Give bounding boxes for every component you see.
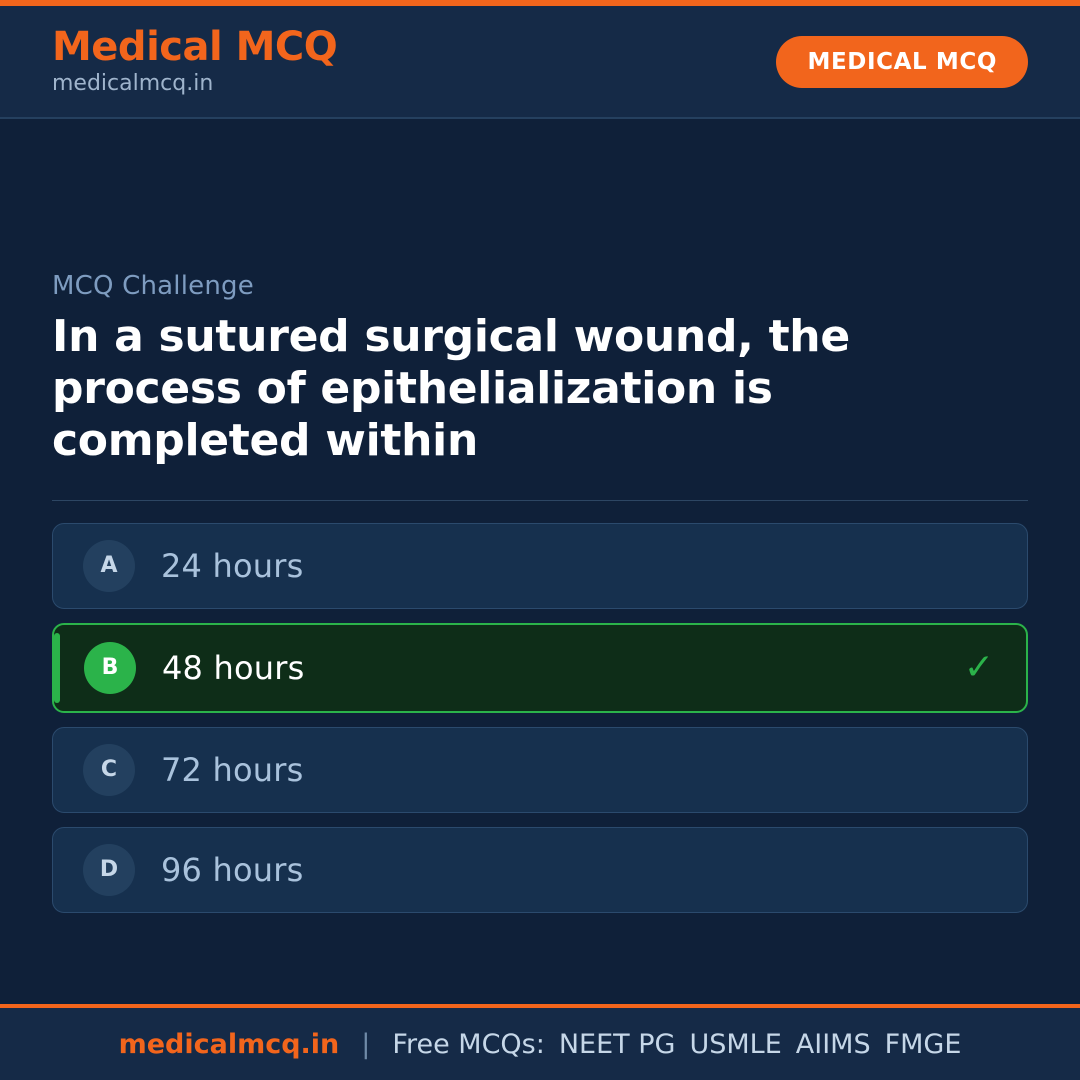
option-b-letter: B (84, 642, 136, 694)
question-text: In a sutured surgical wound, the process… (52, 311, 1012, 467)
footer: medicalmcq.in | Free MCQs: NEET PG USMLE… (0, 1008, 1080, 1080)
option-a[interactable]: A 24 hours (52, 523, 1028, 609)
options-list: A 24 hours B 48 hours ✓ C 72 hours D 96 … (52, 523, 1028, 913)
brand-block: Medical MCQ medicalmcq.in (52, 26, 337, 96)
footer-exam-aiims: AIIMS (796, 1029, 871, 1060)
main-content: MCQ Challenge In a sutured surgical woun… (0, 119, 1080, 1004)
footer-exam-usmle: USMLE (689, 1029, 781, 1060)
brand-title: Medical MCQ (52, 26, 337, 68)
option-b-text: 48 hours (162, 649, 304, 687)
footer-site: medicalmcq.in (119, 1029, 340, 1060)
mcq-card: Medical MCQ medicalmcq.in MEDICAL MCQ MC… (0, 0, 1080, 1080)
option-d[interactable]: D 96 hours (52, 827, 1028, 913)
option-c-text: 72 hours (161, 751, 303, 789)
option-c-letter: C (83, 744, 135, 796)
footer-exam-neet-pg: NEET PG (559, 1029, 676, 1060)
correct-accent-bar (54, 633, 60, 703)
kicker-label: MCQ Challenge (52, 271, 1028, 301)
option-a-text: 24 hours (161, 547, 303, 585)
divider (52, 500, 1028, 501)
check-icon: ✓ (964, 650, 994, 686)
option-a-letter: A (83, 540, 135, 592)
footer-exam-fmge: FMGE (885, 1029, 962, 1060)
option-d-text: 96 hours (161, 851, 303, 889)
option-c[interactable]: C 72 hours (52, 727, 1028, 813)
header: Medical MCQ medicalmcq.in MEDICAL MCQ (0, 6, 1080, 119)
brand-subtitle: medicalmcq.in (52, 72, 337, 96)
header-badge: MEDICAL MCQ (776, 36, 1028, 88)
option-d-letter: D (83, 844, 135, 896)
option-b[interactable]: B 48 hours ✓ (52, 623, 1028, 713)
footer-label: Free MCQs: (392, 1029, 544, 1060)
footer-separator: | (361, 1029, 370, 1060)
